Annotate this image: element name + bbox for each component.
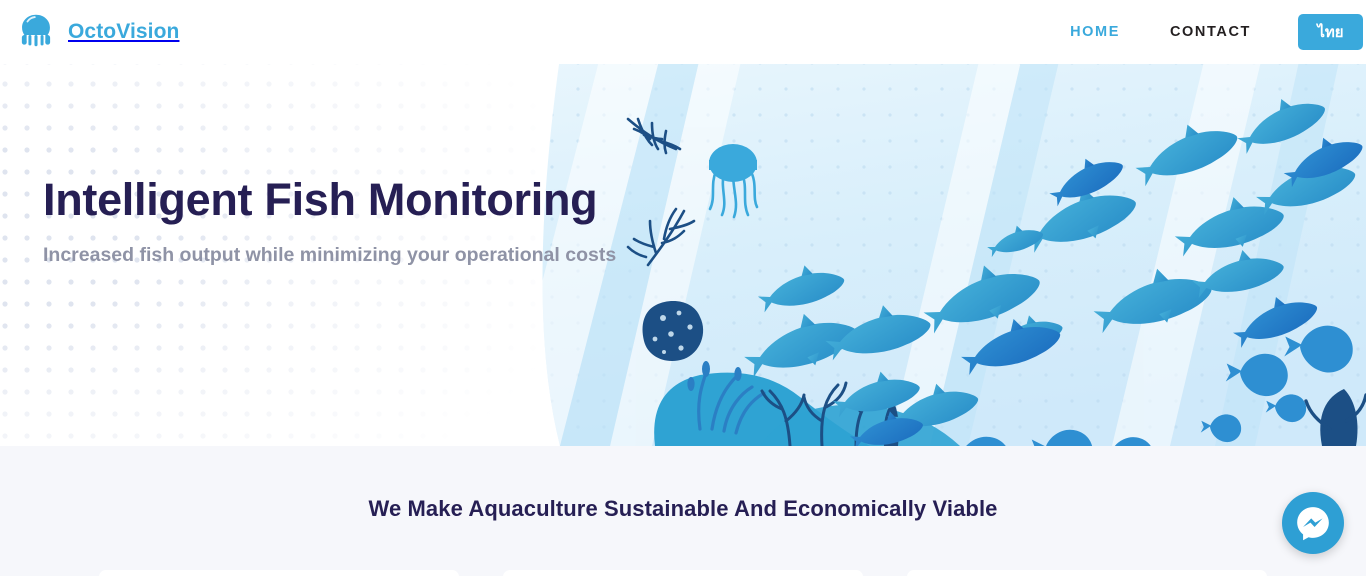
nav-item-contact[interactable]: CONTACT <box>1145 0 1276 64</box>
messenger-chat-button[interactable] <box>1282 492 1344 554</box>
hero-subtitle: Increased fish output while minimizing y… <box>43 241 643 269</box>
feature-card-1[interactable] <box>99 570 459 584</box>
brand-name: OctoVision <box>68 20 179 44</box>
brand-logo-link[interactable]: OctoVision <box>18 13 179 51</box>
hero-title: Intelligent Fish Monitoring <box>43 175 663 225</box>
octopus-icon <box>18 13 54 51</box>
primary-nav: HOME CONTACT ไทย <box>1045 0 1366 64</box>
value-proposition-section: We Make Aquaculture Sustainable And Econ… <box>0 446 1366 576</box>
section-heading: We Make Aquaculture Sustainable And Econ… <box>0 496 1366 522</box>
language-toggle-button[interactable]: ไทย <box>1298 14 1363 50</box>
messenger-icon <box>1294 504 1332 542</box>
feature-card-2[interactable] <box>503 570 863 584</box>
feature-card-row <box>0 570 1366 582</box>
feature-card-3[interactable] <box>907 570 1267 584</box>
hero-section: Intelligent Fish Monitoring Increased fi… <box>0 57 1366 446</box>
top-navbar: OctoVision HOME CONTACT ไทย <box>0 0 1366 64</box>
nav-item-home[interactable]: HOME <box>1045 0 1145 64</box>
hero-copy: Intelligent Fish Monitoring Increased fi… <box>43 175 663 270</box>
